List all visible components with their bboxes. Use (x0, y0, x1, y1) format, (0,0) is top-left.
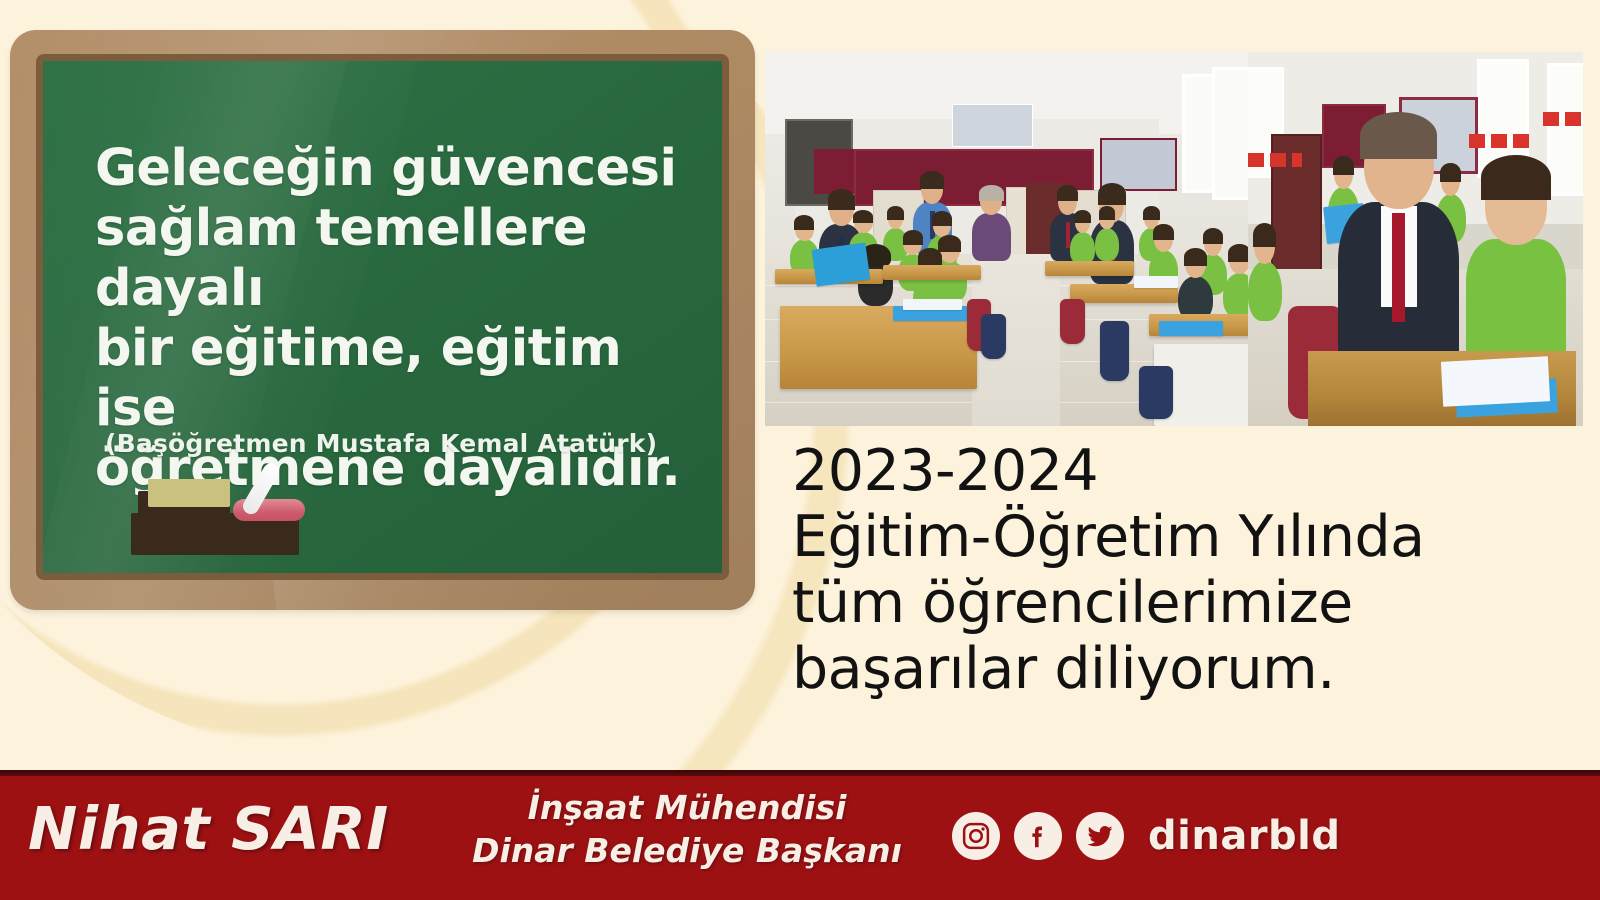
window-far-right (1547, 63, 1583, 196)
instagram-icon[interactable] (952, 812, 1000, 860)
social-handle[interactable]: dinarbld (1148, 812, 1341, 860)
mayor-with-student-photo (1248, 52, 1583, 426)
blackboard-surface: Geleceğin güvencesi sağlam temellere day… (36, 54, 729, 580)
bunting-middle (1469, 134, 1529, 148)
backpack (1060, 299, 1085, 344)
backpack (1139, 366, 1173, 418)
desk (883, 265, 981, 280)
headline-text: 2023-2024 Eğitim-Öğretim Yılında tüm öğr… (792, 438, 1532, 702)
quote-attribution: (Başöğretmen Mustafa Kemal Atatürk) (105, 429, 657, 458)
desk (1045, 261, 1134, 276)
student (1070, 232, 1095, 266)
wall-poster-1 (952, 104, 1033, 147)
workbook (1159, 321, 1223, 336)
social-links: dinarbld (952, 812, 1341, 860)
classroom-wide-photo (765, 52, 1257, 426)
duster-felt-icon (148, 479, 230, 507)
backpack (1100, 321, 1130, 381)
bunting-right (1543, 112, 1583, 126)
background-student (1248, 261, 1282, 321)
notebook (1134, 276, 1178, 287)
backpack (981, 314, 1006, 359)
mayor-title: İnşaat Mühendisi Dinar Belediye Başkanı (452, 786, 922, 872)
bunting-left (1248, 153, 1302, 167)
classroom-closeup-scene (1248, 52, 1583, 426)
blackboard: Geleceğin güvencesi sağlam temellere day… (10, 30, 755, 610)
white-notebook (1441, 356, 1550, 406)
classroom-scene (765, 52, 1257, 426)
bottom-banner: Nihat SARI İnşaat Mühendisi Dinar Beledi… (0, 776, 1600, 900)
facebook-icon[interactable] (1014, 812, 1062, 860)
visitor-seated (972, 213, 1011, 262)
poster-canvas: Geleceğin güvencesi sağlam temellere day… (0, 0, 1600, 900)
twitter-icon[interactable] (1076, 812, 1124, 860)
mayor-name: Nihat SARI (28, 794, 389, 863)
photo-collage (765, 52, 1583, 426)
student (1095, 228, 1120, 262)
notebook (903, 299, 962, 310)
